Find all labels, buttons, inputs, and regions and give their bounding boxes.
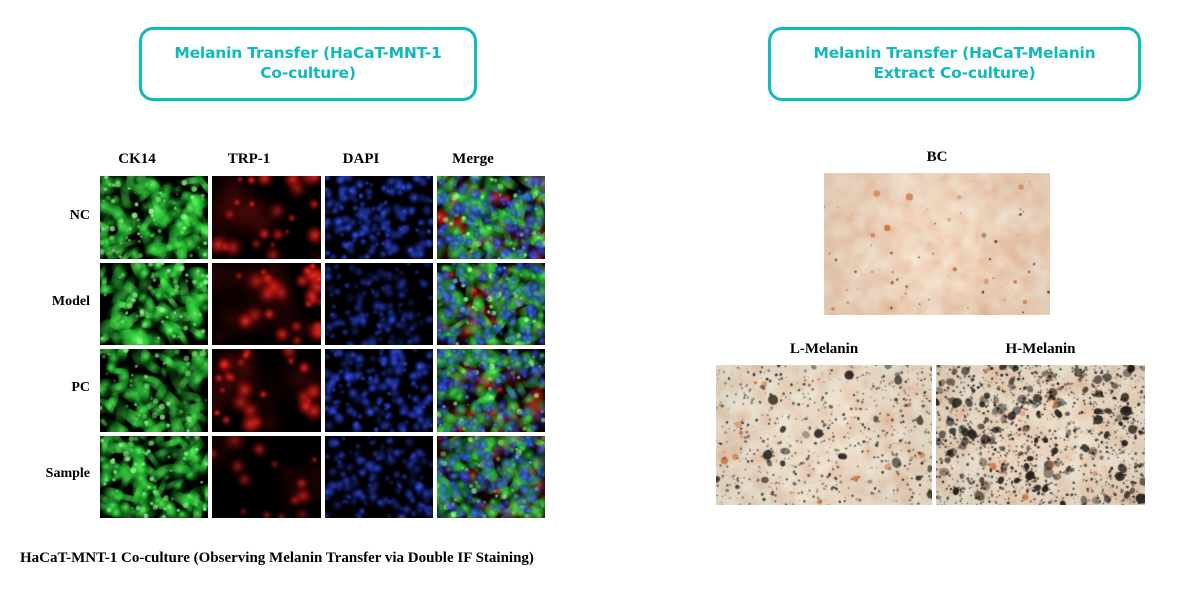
header-left-text: Melanin Transfer (HaCaT-MNT-1 Co-culture… xyxy=(174,44,441,84)
brightfield-canvas xyxy=(824,173,1050,315)
if-cell-pc-merge xyxy=(437,349,545,432)
header-box-right: Melanin Transfer (HaCaT-Melanin Extract … xyxy=(768,27,1141,101)
header-right-line1: Melanin Transfer (HaCaT-Melanin xyxy=(814,44,1096,62)
if-cell-nc-trp1 xyxy=(212,176,320,259)
if-cell-pc-trp1 xyxy=(212,349,320,432)
row-label-model: Model xyxy=(10,294,90,310)
header-left-line2: Co-culture) xyxy=(260,64,355,82)
if-canvas xyxy=(100,263,208,346)
if-cell-pc-dapi xyxy=(325,349,433,432)
if-cell-sample-dapi xyxy=(325,436,433,519)
if-canvas xyxy=(325,436,433,519)
if-canvas xyxy=(325,176,433,259)
if-cell-nc-dapi xyxy=(325,176,433,259)
brightfield-image-bc xyxy=(824,173,1050,315)
if-cell-model-trp1 xyxy=(212,263,320,346)
header-right-line2: Extract Co-culture) xyxy=(874,64,1036,82)
if-cell-sample-trp1 xyxy=(212,436,320,519)
row-label-sample: Sample xyxy=(10,466,90,482)
if-cell-model-ck14 xyxy=(100,263,208,346)
if-cell-sample-merge xyxy=(437,436,545,519)
brightfield-canvas xyxy=(936,365,1145,505)
if-canvas xyxy=(325,349,433,432)
if-canvas xyxy=(437,176,545,259)
if-canvas xyxy=(100,436,208,519)
brightfield-canvas xyxy=(716,365,932,505)
if-canvas xyxy=(100,349,208,432)
if-cell-pc-ck14 xyxy=(100,349,208,432)
image-label-bc: BC xyxy=(824,149,1050,166)
image-label-h-melanin: H-Melanin xyxy=(936,341,1145,358)
brightfield-image-h-melanin xyxy=(936,365,1145,505)
if-canvas xyxy=(212,263,320,346)
if-canvas xyxy=(325,263,433,346)
row-label-nc: NC xyxy=(10,208,90,224)
if-canvas xyxy=(212,349,320,432)
column-header-merge: Merge xyxy=(418,151,528,168)
if-canvas xyxy=(212,176,320,259)
if-canvas xyxy=(212,436,320,519)
if-cell-nc-merge xyxy=(437,176,545,259)
header-box-left: Melanin Transfer (HaCaT-MNT-1 Co-culture… xyxy=(139,27,477,101)
if-cell-sample-ck14 xyxy=(100,436,208,519)
column-header-ck14: CK14 xyxy=(82,151,192,168)
column-header-trp1: TRP-1 xyxy=(194,151,304,168)
row-label-pc: PC xyxy=(10,380,90,396)
header-right-text: Melanin Transfer (HaCaT-Melanin Extract … xyxy=(814,44,1096,84)
if-cell-model-merge xyxy=(437,263,545,346)
if-cell-nc-ck14 xyxy=(100,176,208,259)
if-cell-model-dapi xyxy=(325,263,433,346)
if-canvas xyxy=(100,176,208,259)
if-image-grid xyxy=(100,176,545,518)
if-canvas xyxy=(437,349,545,432)
if-canvas xyxy=(437,436,545,519)
header-left-line1: Melanin Transfer (HaCaT-MNT-1 xyxy=(174,44,441,62)
image-label-l-melanin: L-Melanin xyxy=(716,341,932,358)
if-canvas xyxy=(437,263,545,346)
brightfield-image-l-melanin xyxy=(716,365,932,505)
figure-caption: HaCaT-MNT-1 Co-culture (Observing Melani… xyxy=(20,550,534,567)
column-header-dapi: DAPI xyxy=(306,151,416,168)
